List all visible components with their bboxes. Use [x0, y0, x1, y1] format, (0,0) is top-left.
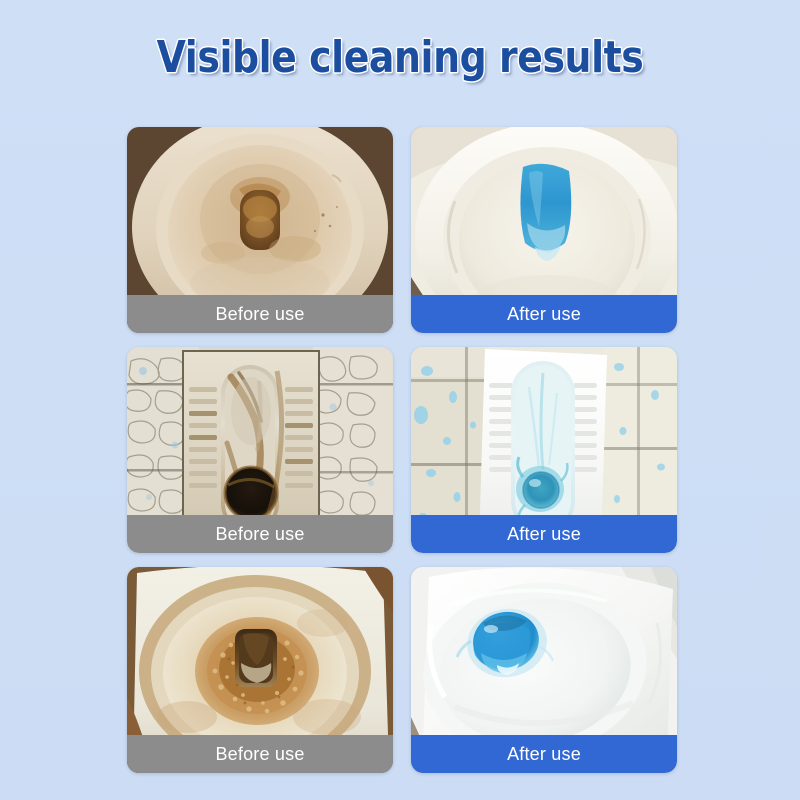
comparison-card-after[interactable]: After use: [411, 347, 677, 553]
comparison-grid: Before use: [127, 127, 678, 773]
caption-after-use: After use: [411, 295, 677, 333]
comparison-card-after[interactable]: After use: [411, 567, 677, 773]
comparison-card-before[interactable]: Before use: [127, 347, 393, 553]
comparison-row: Before use: [127, 347, 678, 553]
caption-before-use: Before use: [127, 515, 393, 553]
caption-after-use: After use: [411, 735, 677, 773]
comparison-row: Before use: [127, 127, 678, 333]
comparison-card-before[interactable]: Before use: [127, 127, 393, 333]
caption-before-use: Before use: [127, 735, 393, 773]
comparison-card-after[interactable]: After use: [411, 127, 677, 333]
comparison-row: Before use: [127, 567, 678, 773]
caption-before-use: Before use: [127, 295, 393, 333]
page-title: Visible cleaning results: [157, 32, 644, 83]
caption-after-use: After use: [411, 515, 677, 553]
page-title-container: Visible cleaning results: [0, 32, 800, 83]
comparison-card-before[interactable]: Before use: [127, 567, 393, 773]
product-comparison-page: Visible cleaning results: [0, 0, 800, 800]
